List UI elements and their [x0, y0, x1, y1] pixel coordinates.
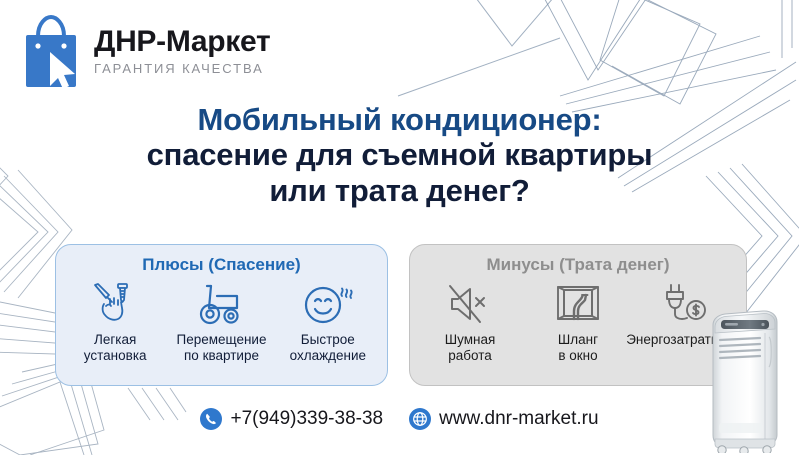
globe-icon — [409, 408, 431, 430]
window-hose-icon — [554, 281, 602, 327]
cons-items: Шумная работа — [410, 281, 746, 363]
pros-card: Плюсы (Спасение) — [55, 244, 388, 386]
contact-bar: +7(949)339-38-38 www.dnr-market.ru — [0, 408, 799, 430]
promo-banner: ДНР-Маркет ГАРАНТИЯ КАЧЕСТВА Мобильный к… — [0, 0, 799, 455]
pros-item-cooling: Быстрое охлаждение — [275, 281, 380, 363]
contact-phone[interactable]: +7(949)339-38-38 — [200, 408, 383, 430]
shopping-bag-cursor-icon — [20, 12, 82, 90]
pros-item-label: Легкая установка — [84, 332, 147, 363]
muted-speaker-icon — [446, 281, 494, 327]
smiley-cooling-icon — [302, 281, 354, 327]
pros-items: Легкая установка Перемещение по к — [56, 281, 387, 363]
pros-item-label: Быстрое охлаждение — [290, 332, 366, 363]
website-url: www.dnr-market.ru — [439, 408, 598, 430]
brand-tagline: ГАРАНТИЯ КАЧЕСТВА — [94, 61, 270, 76]
cons-item-noise: Шумная работа — [417, 281, 524, 363]
cons-item-hose: Шланг в окно — [525, 281, 632, 363]
brand-logo[interactable]: ДНР-Маркет ГАРАНТИЯ КАЧЕСТВА — [20, 12, 270, 90]
headline: Мобильный кондиционер: спасение для съем… — [0, 102, 799, 208]
contact-website[interactable]: www.dnr-market.ru — [409, 408, 598, 430]
portable-air-conditioner — [701, 303, 791, 453]
phone-number: +7(949)339-38-38 — [230, 408, 383, 430]
hand-screwdriver-icon — [92, 281, 138, 327]
cons-card: Минусы (Трата денег) Шумная работа — [409, 244, 747, 386]
pros-card-title: Плюсы (Спасение) — [56, 255, 387, 275]
pros-item-move: Перемещение по квартире — [169, 281, 274, 363]
hand-truck-icon — [195, 281, 247, 327]
cons-item-label: Шланг в окно — [558, 332, 598, 363]
headline-line-2: спасение для съемной квартиры — [0, 137, 799, 172]
headline-line-1: Мобильный кондиционер: — [0, 102, 799, 137]
cons-item-label: Шумная работа — [445, 332, 496, 363]
pros-item-label: Перемещение по квартире — [176, 332, 266, 363]
comparison-cards: Плюсы (Спасение) — [0, 244, 799, 386]
phone-icon — [200, 408, 222, 430]
cons-card-title: Минусы (Трата денег) — [410, 255, 746, 275]
brand-name: ДНР-Маркет — [94, 26, 270, 58]
pros-item-easy-install: Легкая установка — [63, 281, 168, 363]
headline-line-3: или трата денег? — [0, 173, 799, 208]
